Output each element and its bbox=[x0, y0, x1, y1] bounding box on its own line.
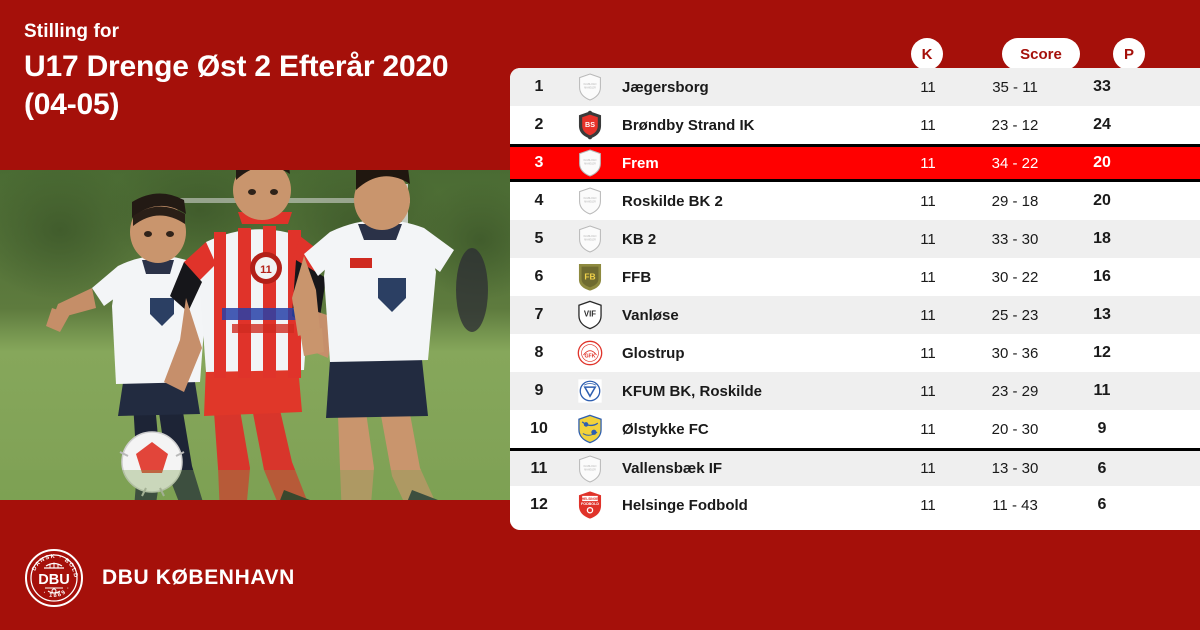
cell-points: 6 bbox=[1070, 496, 1134, 514]
kfum-crest-icon bbox=[568, 376, 612, 406]
svg-text:FB: FB bbox=[584, 272, 595, 282]
table-row[interactable]: 9 KFUM BK, Roskilde1123 - 2911 bbox=[510, 372, 1200, 410]
cell-team-name[interactable]: KB 2 bbox=[612, 231, 896, 248]
svg-text:MANGLER: MANGLER bbox=[584, 468, 596, 471]
cell-position: 4 bbox=[510, 192, 568, 210]
cell-team-name[interactable]: FFB bbox=[612, 269, 896, 286]
cell-goal-score: 35 - 11 bbox=[960, 79, 1070, 96]
cell-matches-played: 11 bbox=[896, 193, 960, 210]
cell-position: 7 bbox=[510, 306, 568, 324]
helsinge-crest-icon: HELSINGE FODBOLD bbox=[568, 490, 612, 520]
column-header-k: K bbox=[911, 38, 943, 70]
svg-text:VIF: VIF bbox=[584, 309, 596, 318]
bsik-crest-icon: BS bbox=[568, 110, 612, 140]
cell-points: 12 bbox=[1070, 344, 1134, 362]
shield-generic-icon: KLUBLOGO MANGLER bbox=[568, 72, 612, 102]
cell-goal-score: 13 - 30 bbox=[960, 460, 1070, 477]
cell-position: 9 bbox=[510, 382, 568, 400]
table-row[interactable]: 4 KLUBLOGO MANGLERRoskilde BK 21129 - 18… bbox=[510, 182, 1200, 220]
svg-text:MANGLER: MANGLER bbox=[584, 200, 596, 203]
svg-text:KLUBLOGO: KLUBLOGO bbox=[584, 198, 597, 200]
youth-football-match-photo: 11 bbox=[0, 170, 510, 500]
svg-text:FODBOLD: FODBOLD bbox=[581, 502, 599, 506]
cell-matches-played: 11 bbox=[896, 231, 960, 248]
cell-matches-played: 11 bbox=[896, 460, 960, 477]
table-row[interactable]: 6 FBFFB1130 - 2216 bbox=[510, 258, 1200, 296]
cell-position: 10 bbox=[510, 420, 568, 438]
cell-matches-played: 11 bbox=[896, 421, 960, 438]
cell-goal-score: 23 - 12 bbox=[960, 117, 1070, 134]
cell-goal-score: 29 - 18 bbox=[960, 193, 1070, 210]
table-row[interactable]: 1 KLUBLOGO MANGLERJægersborg1135 - 1133 bbox=[510, 68, 1200, 106]
table-row[interactable]: 12 HELSINGE FODBOLD Helsinge Fodbold1111… bbox=[510, 486, 1200, 524]
svg-text:KLUBLOGO: KLUBLOGO bbox=[584, 160, 597, 162]
cell-matches-played: 11 bbox=[896, 307, 960, 324]
cell-points: 20 bbox=[1070, 192, 1134, 210]
standings-graphic: Stilling for U17 Drenge Øst 2 Efterår 20… bbox=[0, 0, 1200, 630]
olstykke-crest-icon bbox=[568, 414, 612, 444]
cell-matches-played: 11 bbox=[896, 269, 960, 286]
cell-team-name[interactable]: KFUM BK, Roskilde bbox=[612, 383, 896, 400]
cell-position: 12 bbox=[510, 496, 568, 514]
cell-team-name[interactable]: Jægersborg bbox=[612, 79, 896, 96]
ffb-crest-icon: FB bbox=[568, 262, 612, 292]
cell-position: 2 bbox=[510, 116, 568, 134]
column-header-score: Score bbox=[1002, 38, 1080, 70]
cell-matches-played: 11 bbox=[896, 497, 960, 514]
cell-goal-score: 30 - 36 bbox=[960, 345, 1070, 362]
dbu-crest-icon: DANSK · BOLDSPIL · UNION · 1889 · DBU bbox=[24, 548, 84, 608]
table-row[interactable]: 10 Ølstykke FC1120 - 309 bbox=[510, 410, 1200, 448]
cell-points: 6 bbox=[1070, 460, 1134, 478]
cell-team-name[interactable]: Vanløse bbox=[612, 307, 896, 324]
table-row[interactable]: 8 GFKGlostrup1130 - 3612 bbox=[510, 334, 1200, 372]
cell-points: 9 bbox=[1070, 420, 1134, 438]
cell-position: 8 bbox=[510, 344, 568, 362]
shield-generic-icon: KLUBLOGO MANGLER bbox=[568, 186, 612, 216]
svg-text:KLUBLOGO: KLUBLOGO bbox=[584, 466, 597, 468]
gfk-crest-icon: GFK bbox=[568, 338, 612, 368]
shield-generic-icon: KLUBLOGO MANGLER bbox=[568, 224, 612, 254]
cell-goal-score: 30 - 22 bbox=[960, 269, 1070, 286]
svg-text:MANGLER: MANGLER bbox=[584, 86, 596, 89]
cell-matches-played: 11 bbox=[896, 155, 960, 172]
svg-text:BS: BS bbox=[585, 121, 595, 129]
cell-position: 1 bbox=[510, 78, 568, 96]
vif-crest-icon: VIF bbox=[568, 300, 612, 330]
cell-team-name[interactable]: Helsinge Fodbold bbox=[612, 497, 896, 514]
cell-position: 5 bbox=[510, 230, 568, 248]
cell-points: 16 bbox=[1070, 268, 1134, 286]
footer-brand: DANSK · BOLDSPIL · UNION · 1889 · DBU DB… bbox=[24, 548, 295, 608]
cell-goal-score: 33 - 30 bbox=[960, 231, 1070, 248]
page-title: U17 Drenge Øst 2 Efterår 2020 (04-05) bbox=[24, 48, 494, 124]
table-row[interactable]: 7 VIFVanløse1125 - 2313 bbox=[510, 296, 1200, 334]
cell-team-name[interactable]: Ølstykke FC bbox=[612, 421, 896, 438]
header: Stilling for U17 Drenge Øst 2 Efterår 20… bbox=[24, 20, 494, 124]
brand-name: DBU KØBENHAVN bbox=[102, 566, 295, 590]
cell-goal-score: 34 - 22 bbox=[960, 155, 1070, 172]
table-row[interactable]: 2 BS Brøndby Strand IK1123 - 1224 bbox=[510, 106, 1200, 144]
svg-text:GFK: GFK bbox=[585, 354, 596, 360]
svg-text:11: 11 bbox=[260, 264, 272, 276]
cell-matches-played: 11 bbox=[896, 345, 960, 362]
cell-position: 3 bbox=[510, 154, 568, 172]
cell-position: 6 bbox=[510, 268, 568, 286]
cell-team-name[interactable]: Brøndby Strand IK bbox=[612, 117, 896, 134]
cell-team-name[interactable]: Vallensbæk IF bbox=[612, 460, 896, 477]
cell-goal-score: 20 - 30 bbox=[960, 421, 1070, 438]
standings-table: 1 KLUBLOGO MANGLERJægersborg1135 - 11332… bbox=[510, 68, 1200, 530]
cell-matches-played: 11 bbox=[896, 117, 960, 134]
cell-goal-score: 11 - 43 bbox=[960, 497, 1070, 514]
cell-points: 24 bbox=[1070, 116, 1134, 134]
cell-points: 11 bbox=[1070, 382, 1134, 400]
cell-position: 11 bbox=[510, 460, 568, 478]
cell-points: 18 bbox=[1070, 230, 1134, 248]
hero-photo: 11 bbox=[0, 170, 510, 500]
cell-points: 13 bbox=[1070, 306, 1134, 324]
table-row[interactable]: 11 KLUBLOGO MANGLERVallensbæk IF1113 - 3… bbox=[510, 448, 1200, 486]
cell-team-name[interactable]: Frem bbox=[612, 155, 896, 172]
cell-matches-played: 11 bbox=[896, 79, 960, 96]
svg-text:MANGLER: MANGLER bbox=[584, 238, 596, 241]
header-kicker: Stilling for bbox=[24, 20, 494, 44]
cell-goal-score: 25 - 23 bbox=[960, 307, 1070, 324]
svg-text:MANGLER: MANGLER bbox=[584, 162, 596, 165]
cell-points: 20 bbox=[1070, 154, 1134, 172]
cell-team-name[interactable]: Roskilde BK 2 bbox=[612, 193, 896, 210]
svg-text:KLUBLOGO: KLUBLOGO bbox=[584, 236, 597, 238]
svg-text:KLUBLOGO: KLUBLOGO bbox=[584, 84, 597, 86]
column-header-p: P bbox=[1113, 38, 1145, 70]
cell-team-name[interactable]: Glostrup bbox=[612, 345, 896, 362]
svg-text:DBU: DBU bbox=[38, 572, 69, 588]
cell-matches-played: 11 bbox=[896, 383, 960, 400]
shield-generic-icon: KLUBLOGO MANGLER bbox=[568, 454, 612, 484]
cell-goal-score: 23 - 29 bbox=[960, 383, 1070, 400]
table-row[interactable]: 3 KLUBLOGO MANGLERFrem1134 - 2220 bbox=[510, 144, 1200, 182]
cell-points: 33 bbox=[1070, 78, 1134, 96]
shield-generic-icon: KLUBLOGO MANGLER bbox=[568, 148, 612, 178]
svg-text:HELSINGE: HELSINGE bbox=[582, 497, 599, 501]
table-row[interactable]: 5 KLUBLOGO MANGLERKB 21133 - 3018 bbox=[510, 220, 1200, 258]
